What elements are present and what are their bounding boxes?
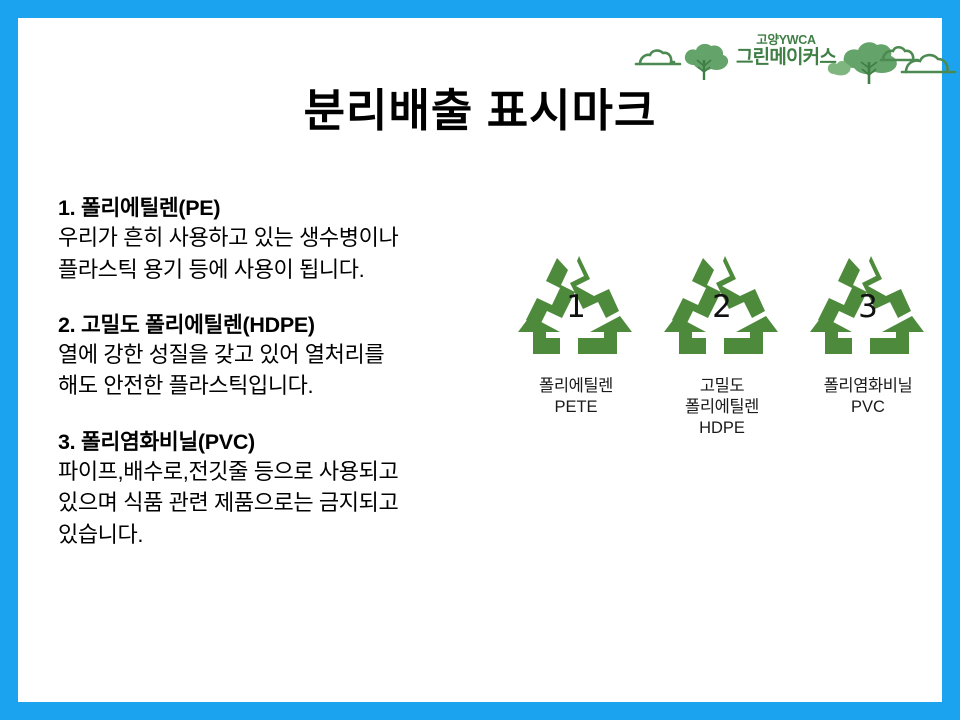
recycling-mark-3: 3 폴리염화비닐 PVC xyxy=(804,248,932,418)
caption-line-code: HDPE xyxy=(685,418,759,439)
paragraph-1-line-1: 우리가 흔히 사용하고 있는 생수병이나 xyxy=(58,222,558,253)
caption-line-code: PVC xyxy=(824,397,913,418)
recycling-mark-1-caption: 폴리에틸렌 PETE xyxy=(539,376,613,418)
recycle-icon: 2 xyxy=(662,248,782,366)
paragraph-3-line-2: 있으며 식품 관련 제품으로는 금지되고 xyxy=(58,487,558,518)
caption-line-korean: 폴리에틸렌 xyxy=(539,376,613,397)
recycling-marks: 1 폴리에틸렌 PETE xyxy=(512,248,932,439)
caption-line-code: PETE xyxy=(539,397,613,418)
page-title: 분리배출 표시마크 xyxy=(18,74,942,139)
recycling-code-number: 1 xyxy=(516,248,636,366)
slide: 고양YWCA 그린메이커스 분리배출 표시마크 1. 폴리에틸렌(PE) 우리가… xyxy=(0,0,960,720)
recycle-icon: 3 xyxy=(808,248,928,366)
paragraph-2-line-1: 열에 강한 성질을 갖고 있어 열처리를 xyxy=(58,339,558,370)
recycling-mark-2-caption: 고밀도 폴리에틸렌 HDPE xyxy=(685,376,759,439)
paragraph-3: 3. 폴리염화비닐(PVC) 파이프,배수로,전깃줄 등으로 사용되고 있으며 … xyxy=(58,428,558,550)
logo-line-1: 고양YWCA xyxy=(726,34,846,47)
recycling-code-number: 2 xyxy=(662,248,782,366)
paragraph-1-heading: 1. 폴리에틸렌(PE) xyxy=(58,194,558,222)
logo-line-2: 그린메이커스 xyxy=(726,48,846,68)
caption-line-korean-1: 고밀도 xyxy=(685,376,759,397)
caption-line-korean: 폴리염화비닐 xyxy=(824,376,913,397)
paragraph-1: 1. 폴리에틸렌(PE) 우리가 흔히 사용하고 있는 생수병이나 플라스틱 용… xyxy=(58,194,558,285)
paragraph-2-heading: 2. 고밀도 폴리에틸렌(HDPE) xyxy=(58,311,558,339)
logo-text: 고양YWCA 그린메이커스 xyxy=(726,34,846,68)
recycling-mark-1: 1 폴리에틸렌 PETE xyxy=(512,248,640,418)
cloud-outline-icon xyxy=(636,51,680,64)
caption-line-korean-2: 폴리에틸렌 xyxy=(685,397,759,418)
paragraph-3-line-1: 파이프,배수로,전깃줄 등으로 사용되고 xyxy=(58,456,558,487)
paragraph-1-line-2: 플라스틱 용기 등에 사용이 됩니다. xyxy=(58,254,558,285)
recycle-icon: 1 xyxy=(516,248,636,366)
recycling-code-number: 3 xyxy=(808,248,928,366)
paragraph-2: 2. 고밀도 폴리에틸렌(HDPE) 열에 강한 성질을 갖고 있어 열처리를 … xyxy=(58,311,558,402)
slide-canvas: 고양YWCA 그린메이커스 분리배출 표시마크 1. 폴리에틸렌(PE) 우리가… xyxy=(18,18,942,702)
paragraph-3-heading: 3. 폴리염화비닐(PVC) xyxy=(58,428,558,456)
recycling-mark-3-caption: 폴리염화비닐 PVC xyxy=(824,376,913,418)
recycling-mark-2: 2 고밀도 폴리에틸렌 HDPE xyxy=(658,248,786,439)
body-text: 1. 폴리에틸렌(PE) 우리가 흔히 사용하고 있는 생수병이나 플라스틱 용… xyxy=(58,194,558,576)
paragraph-2-line-2: 해도 안전한 플라스틱입니다. xyxy=(58,370,558,401)
paragraph-3-line-3: 있습니다. xyxy=(58,519,558,550)
